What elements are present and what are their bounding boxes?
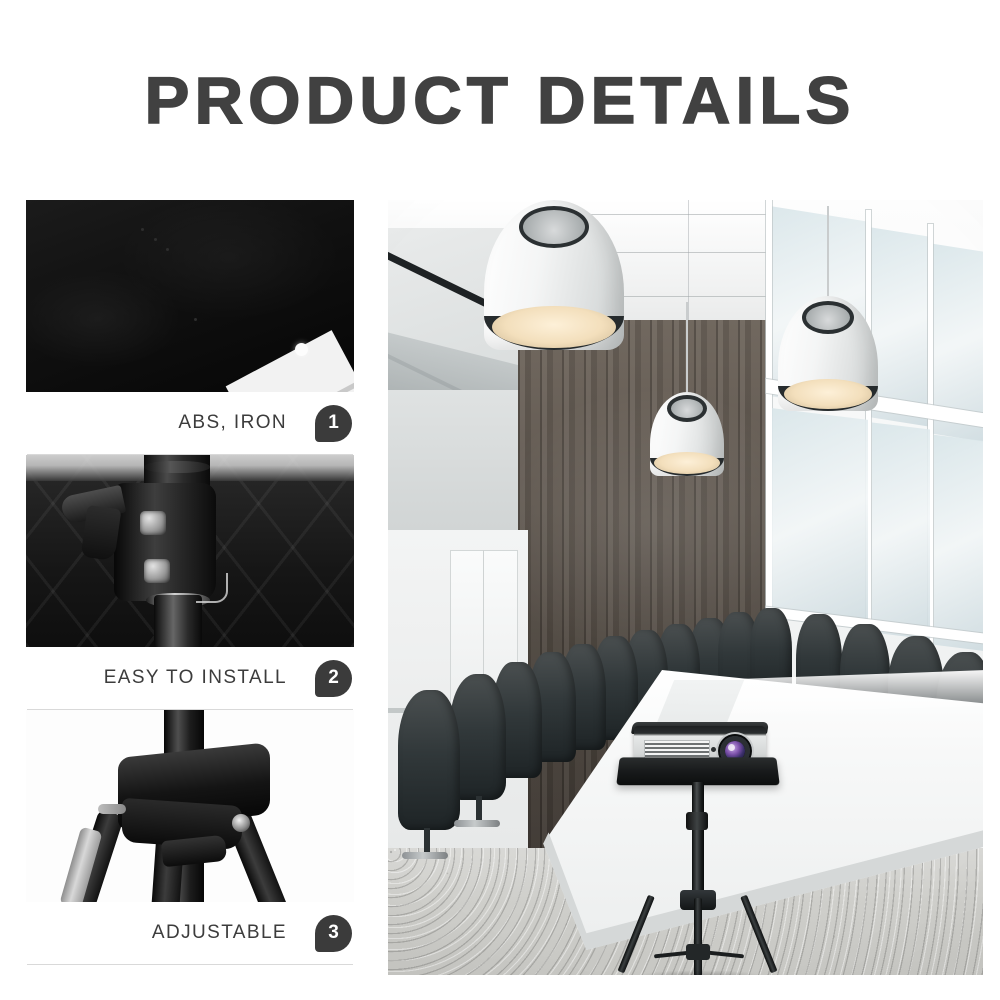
feature-caption-1: ABS, IRON 1	[26, 392, 354, 454]
window-pane	[872, 422, 930, 639]
feature-badge: 1	[315, 405, 352, 442]
feature-item-1[interactable]: ABS, IRON 1	[26, 200, 354, 455]
pendant-lamp-small	[650, 392, 724, 488]
feature-item-2[interactable]: EASY TO INSTALL 2	[26, 455, 354, 710]
pendant-lamp-large	[484, 200, 624, 365]
pendant-lamp-right	[778, 296, 878, 426]
feature-label: ABS, IRON	[178, 412, 287, 434]
feature-caption-2: EASY TO INSTALL 2	[26, 647, 354, 709]
chair-base	[454, 820, 500, 827]
surface-speck	[194, 318, 197, 321]
chair-stem	[476, 796, 482, 822]
tripod-brace-hub	[686, 944, 710, 960]
feature-divider	[27, 964, 353, 965]
feature-caption-3: ADJUSTABLE 3	[26, 902, 354, 964]
tray-highlight-dot	[295, 343, 308, 356]
lamp-diffuser	[784, 379, 872, 409]
hub-screw	[232, 814, 250, 832]
projector-tripod-stand	[618, 756, 778, 975]
hub-tab	[161, 835, 227, 868]
feature-label: EASY TO INSTALL	[104, 667, 287, 689]
product-details-page: PRODUCT DETAILS ABS, IRON 1	[0, 0, 1000, 1000]
feature-badge: 3	[315, 915, 352, 952]
thumb-abs-iron	[26, 200, 354, 392]
window-pane	[772, 408, 868, 630]
thumb-easy-to-install	[26, 455, 354, 647]
lamp-top-ring	[519, 206, 589, 248]
lamp-top-ring	[802, 301, 854, 334]
retainer-clip	[196, 573, 228, 603]
tripod-leg	[618, 895, 655, 974]
chair-stem	[424, 828, 430, 854]
surface-speck	[154, 238, 157, 241]
tripod-center-pole	[692, 782, 704, 900]
lamp-cord	[827, 206, 829, 301]
lamp-diffuser	[654, 452, 719, 474]
tripod-leg	[740, 895, 777, 974]
chair-base	[402, 852, 448, 859]
lamp-cord	[686, 302, 688, 397]
projector-sensor	[711, 747, 716, 752]
tripod-floor-shadow	[638, 970, 762, 975]
tripod-leg	[694, 898, 702, 975]
page-title: PRODUCT DETAILS	[0, 62, 1000, 138]
lamp-diffuser	[492, 306, 615, 348]
lamp-shade	[650, 392, 724, 476]
thumb-adjustable	[26, 710, 354, 902]
mount-tube-rim	[144, 461, 210, 473]
window-pane	[934, 435, 983, 651]
feature-label: ADJUSTABLE	[152, 922, 287, 944]
surface-speck	[141, 228, 144, 231]
adjust-knob	[98, 804, 126, 814]
feature-list: ABS, IRON 1 EASY TO INSTA	[26, 200, 354, 975]
lamp-top-ring	[667, 395, 707, 422]
surface-speck	[166, 248, 169, 251]
lamp-shade	[778, 296, 878, 411]
clamp-bolt-upper	[140, 511, 166, 535]
projector-lens-highlight	[728, 744, 735, 751]
feature-badge: 2	[315, 660, 352, 697]
lamp-shade	[484, 200, 624, 350]
tripod-height-lock	[686, 812, 708, 830]
tripod-shaft	[154, 595, 202, 647]
main-product-photo	[388, 200, 983, 975]
chair	[398, 690, 460, 830]
feature-item-3[interactable]: ADJUSTABLE 3	[26, 710, 354, 965]
clamp-bolt-lower	[144, 559, 170, 583]
